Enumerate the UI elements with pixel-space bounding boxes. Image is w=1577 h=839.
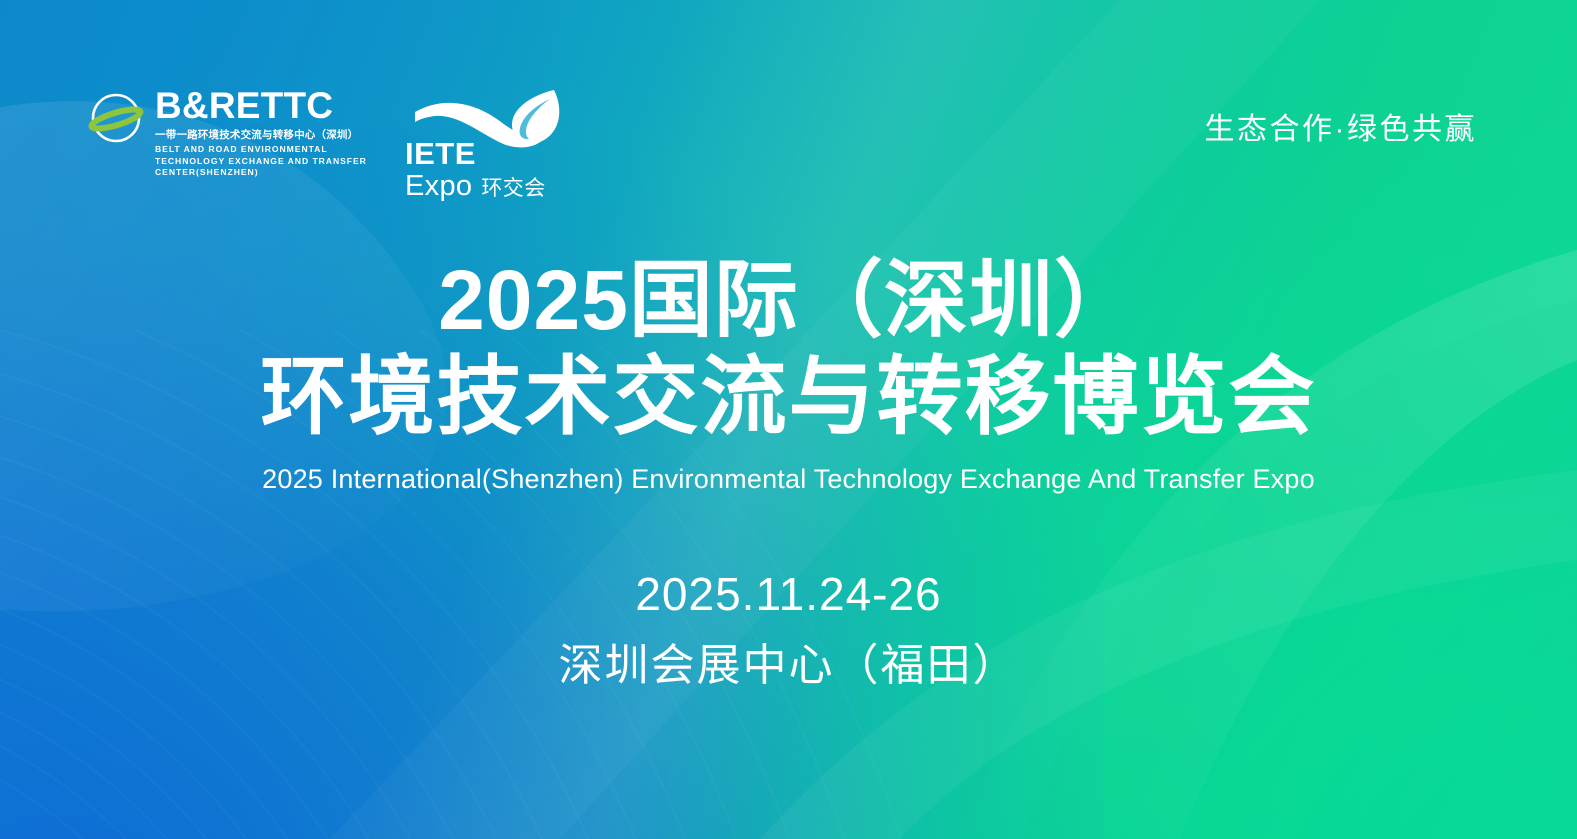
- globe-icon: [88, 90, 144, 146]
- title-line-2: 环境技术交流与转移博览会: [0, 348, 1577, 446]
- iete-expo-logo[interactable]: IETE Expo 环交会: [405, 88, 565, 192]
- event-venue: 深圳会展中心（福田）: [0, 629, 1577, 693]
- event-banner: B&RETTC 一带一路环境技术交流与转移中心（深圳） BELT AND ROA…: [0, 0, 1577, 839]
- brettc-logo[interactable]: B&RETTC 一带一路环境技术交流与转移中心（深圳） BELT AND ROA…: [88, 88, 367, 179]
- tagline: 生态合作·绿色共赢: [1205, 104, 1478, 148]
- event-date: 2025.11.24-26: [0, 567, 1577, 621]
- title-line-1: 2025国际（深圳）: [0, 255, 1577, 346]
- brettc-wordmark: B&RETTC: [155, 88, 367, 124]
- subtitle-english: 2025 International(Shenzhen) Environment…: [0, 464, 1577, 495]
- iete-expo-word: Expo: [405, 172, 472, 201]
- iete-abbr: IETE: [405, 138, 546, 169]
- brettc-english-name: BELT AND ROAD ENVIRONMENTAL TECHNOLOGY E…: [155, 144, 367, 179]
- logo-row: B&RETTC 一带一路环境技术交流与转移中心（深圳） BELT AND ROA…: [88, 88, 565, 192]
- brettc-chinese-name: 一带一路环境技术交流与转移中心（深圳）: [155, 127, 367, 142]
- main-content: 2025国际（深圳） 环境技术交流与转移博览会 2025 Internation…: [0, 255, 1577, 693]
- iete-chinese: 环交会: [481, 178, 546, 199]
